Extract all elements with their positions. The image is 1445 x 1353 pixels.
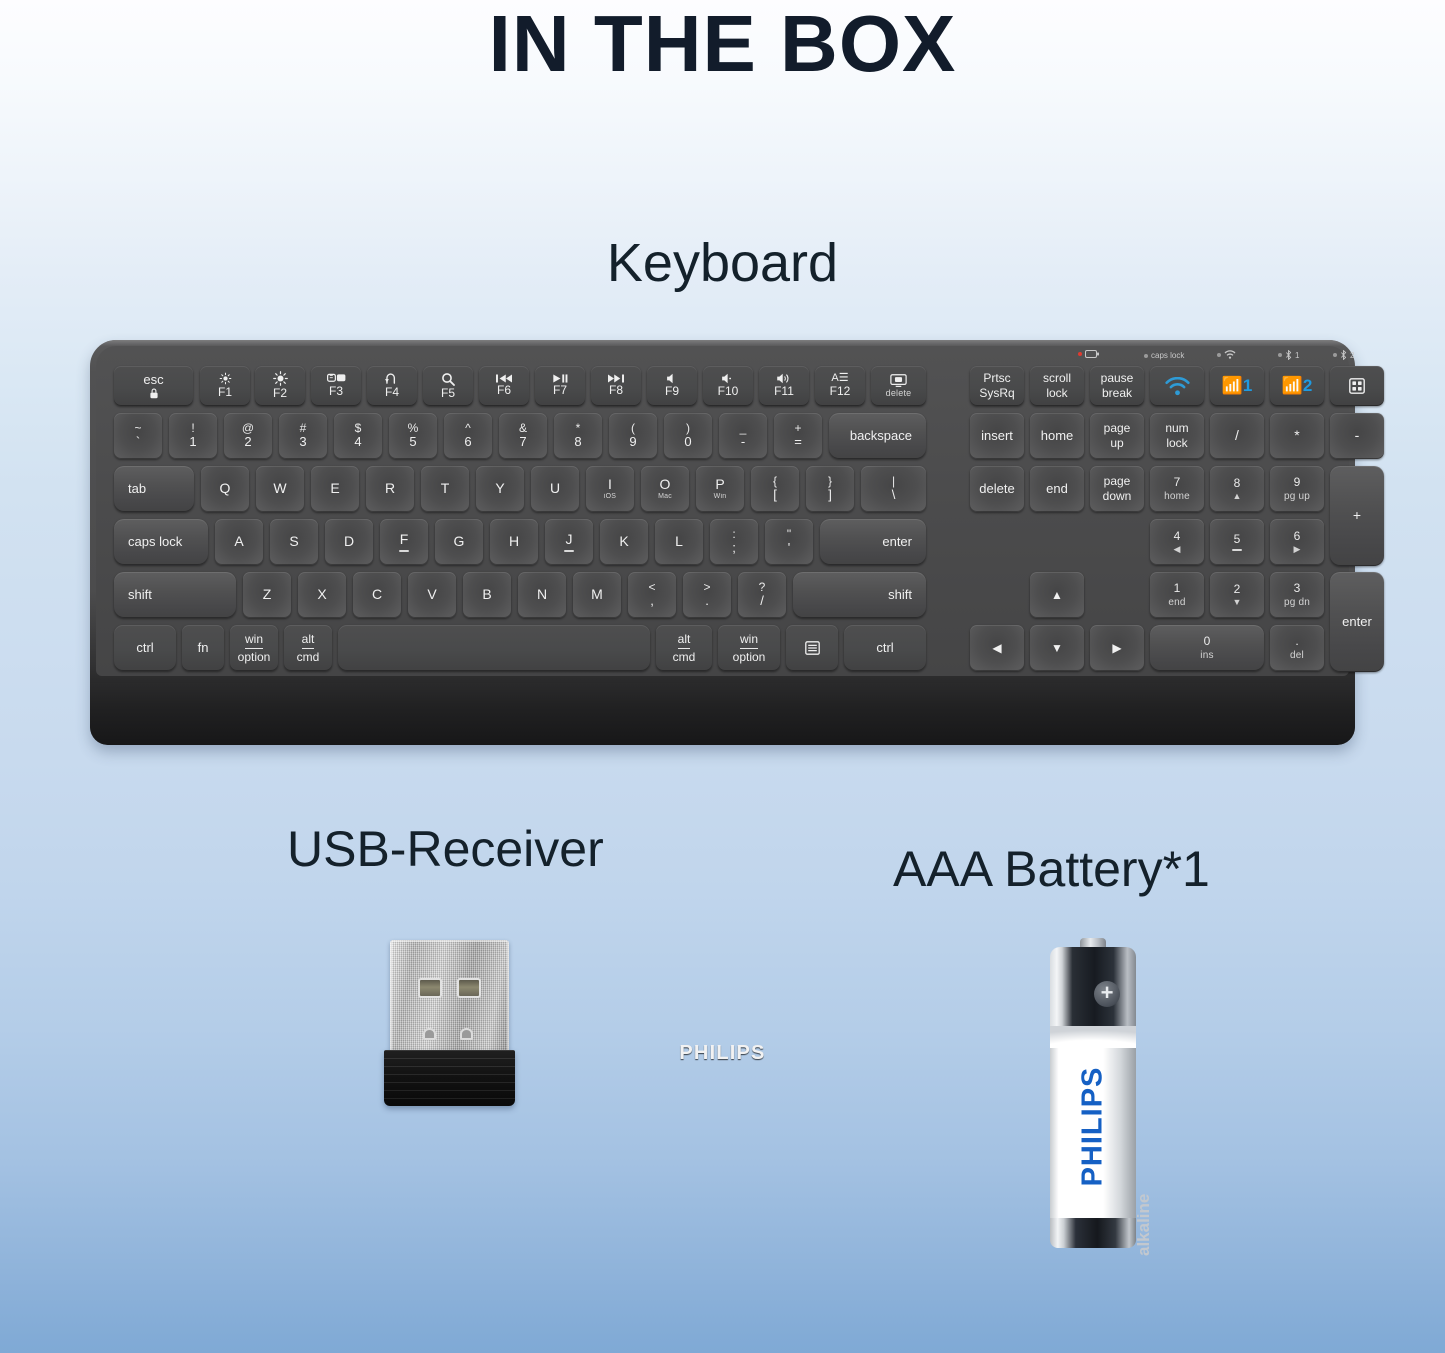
z-key[interactable]: Z bbox=[243, 572, 291, 618]
numpad-6-key[interactable]: 6▶ bbox=[1270, 519, 1324, 565]
numpad-decimal-key[interactable]: .del bbox=[1270, 625, 1324, 671]
wifi-led-dot bbox=[1217, 353, 1221, 357]
comma-key[interactable]: <, bbox=[628, 572, 676, 618]
menu-icon bbox=[805, 641, 820, 655]
q-key[interactable]: Q bbox=[201, 466, 249, 512]
caps-lock-led-dot bbox=[1144, 354, 1148, 358]
home-key[interactable]: home bbox=[1030, 413, 1084, 459]
bluetooth-channel-2-key[interactable]: 📶2 bbox=[1270, 366, 1324, 406]
numpad-0-key[interactable]: 0ins bbox=[1150, 625, 1264, 671]
bt2-led-dot bbox=[1333, 353, 1337, 357]
g-key[interactable]: G bbox=[435, 519, 483, 565]
brightness-up-icon bbox=[273, 371, 288, 386]
battery-negative-terminal bbox=[1050, 1218, 1136, 1248]
m-key[interactable]: M bbox=[573, 572, 621, 618]
battery-brand-text: PHILIPS bbox=[1077, 1032, 1110, 1222]
r-key[interactable]: R bbox=[366, 466, 414, 512]
battery-type-text: alkaline bbox=[1134, 1136, 1154, 1256]
language-icon: A☰ bbox=[831, 373, 848, 384]
f12-language-key[interactable]: A☰ F12 bbox=[815, 366, 865, 406]
bluetooth-icon: 📶2 bbox=[1282, 376, 1313, 395]
pause-break-key[interactable]: pause break bbox=[1090, 366, 1144, 406]
f-key[interactable]: F bbox=[380, 519, 428, 565]
digit-9-key[interactable]: (9 bbox=[609, 413, 657, 459]
back-arrow-icon bbox=[385, 373, 400, 385]
numpad-3-key[interactable]: 3pg dn bbox=[1270, 572, 1324, 618]
u-key[interactable]: U bbox=[531, 466, 579, 512]
battery-icon bbox=[1085, 350, 1099, 358]
a-key[interactable]: A bbox=[215, 519, 263, 565]
l-key[interactable]: L bbox=[655, 519, 703, 565]
j-homing-bar bbox=[564, 550, 574, 552]
usb-retention-notch bbox=[460, 1028, 473, 1040]
battery-led-indicator bbox=[1078, 350, 1099, 358]
x-key[interactable]: X bbox=[298, 572, 346, 618]
backspace-key[interactable]: backspace bbox=[829, 413, 926, 459]
numpad-7-key[interactable]: 7home bbox=[1150, 466, 1204, 512]
slash-key[interactable]: ?/ bbox=[738, 572, 786, 618]
wifi-led-indicator bbox=[1217, 350, 1236, 359]
battery-label-wrap: PHILIPS alkaline bbox=[1050, 1026, 1136, 1222]
f9-mute-key[interactable]: F9 bbox=[647, 366, 697, 406]
battery-label: AAA Battery*1 bbox=[893, 840, 1210, 898]
numpad-5-homing-bar bbox=[1232, 549, 1242, 551]
semicolon-key[interactable]: :; bbox=[710, 519, 758, 565]
previous-track-icon bbox=[496, 374, 512, 383]
bluetooth-icon bbox=[1285, 350, 1292, 360]
battery-led-dot bbox=[1078, 352, 1082, 356]
calculator-icon bbox=[1349, 378, 1365, 394]
enter-key[interactable]: enter bbox=[820, 519, 926, 565]
battery-top-section: + bbox=[1050, 947, 1136, 1029]
i-key[interactable]: IiOS bbox=[586, 466, 634, 512]
scroll-lock-key[interactable]: scroll lock bbox=[1030, 366, 1084, 406]
f6-previous-track-key[interactable]: F6 bbox=[479, 366, 529, 406]
digit-5-key[interactable]: %5 bbox=[389, 413, 437, 459]
numpad-multiply-key[interactable]: * bbox=[1270, 413, 1324, 459]
philips-brand-logo: PHILIPS bbox=[90, 1042, 1355, 1065]
f10-volume-down-key[interactable]: F10 bbox=[703, 366, 753, 406]
numpad-4-key[interactable]: 4◀ bbox=[1150, 519, 1204, 565]
left-bracket-key[interactable]: {[ bbox=[751, 466, 799, 512]
digit-0-key[interactable]: )0 bbox=[664, 413, 712, 459]
left-win-option-key[interactable]: win option bbox=[230, 625, 278, 671]
backtick-key[interactable]: ~` bbox=[114, 413, 162, 459]
h-key[interactable]: H bbox=[490, 519, 538, 565]
next-track-icon bbox=[608, 374, 624, 383]
keyboard-bottom-bezel bbox=[90, 683, 1355, 745]
s-key[interactable]: S bbox=[270, 519, 318, 565]
page-title: IN THE BOX bbox=[0, 2, 1445, 86]
end-key[interactable]: end bbox=[1030, 466, 1084, 512]
digit-3-key[interactable]: #3 bbox=[279, 413, 327, 459]
quote-key[interactable]: "' bbox=[765, 519, 813, 565]
context-menu-key[interactable] bbox=[786, 625, 838, 671]
task-view-icon bbox=[327, 373, 346, 384]
f-homing-bar bbox=[399, 550, 409, 552]
brightness-down-icon bbox=[219, 372, 232, 385]
w-key[interactable]: W bbox=[256, 466, 304, 512]
wifi-icon bbox=[1165, 377, 1190, 396]
p-key[interactable]: PWin bbox=[696, 466, 744, 512]
bluetooth-1-led-indicator: 1 bbox=[1278, 350, 1299, 360]
usb-receiver-label: USB-Receiver bbox=[287, 820, 604, 878]
right-win-option-key[interactable]: win option bbox=[718, 625, 780, 671]
bluetooth-2-led-indicator: 2 bbox=[1333, 350, 1354, 360]
bt1-led-label: 1 bbox=[1295, 351, 1299, 360]
left-alt-cmd-key[interactable]: alt cmd bbox=[284, 625, 332, 671]
usb-retention-notch bbox=[423, 1028, 436, 1040]
caps-lock-key[interactable]: caps lock bbox=[114, 519, 208, 565]
b-key[interactable]: B bbox=[463, 572, 511, 618]
j-key[interactable]: J bbox=[545, 519, 593, 565]
usb-plastic-body bbox=[384, 1050, 515, 1106]
y-key[interactable]: Y bbox=[476, 466, 524, 512]
k-key[interactable]: K bbox=[600, 519, 648, 565]
f11-volume-up-key[interactable]: F11 bbox=[759, 366, 809, 406]
arrow-up-key[interactable]: ▲ bbox=[1030, 572, 1084, 618]
volume-down-icon bbox=[721, 373, 735, 384]
caps-lock-led-label: caps lock bbox=[1151, 351, 1184, 360]
keyboard-product-image: caps lock 1 2 esc bbox=[90, 340, 1355, 745]
arrow-left-key[interactable]: ◀ bbox=[970, 625, 1024, 671]
digit-4-key[interactable]: $4 bbox=[334, 413, 382, 459]
f3-task-view-key[interactable]: F3 bbox=[311, 366, 361, 406]
f5-search-key[interactable]: F5 bbox=[423, 366, 473, 406]
left-ctrl-key[interactable]: ctrl bbox=[114, 625, 176, 671]
backslash-key[interactable]: |\ bbox=[861, 466, 926, 512]
space-key[interactable] bbox=[338, 625, 650, 671]
numpad-5-key[interactable]: 5 bbox=[1210, 519, 1264, 565]
screen-delete-icon bbox=[890, 374, 907, 387]
lock-icon bbox=[149, 388, 159, 399]
numpad-minus-key[interactable]: - bbox=[1330, 413, 1384, 459]
digit-2-key[interactable]: @2 bbox=[224, 413, 272, 459]
right-ctrl-key[interactable]: ctrl bbox=[844, 625, 926, 671]
o-key[interactable]: OMac bbox=[641, 466, 689, 512]
calculator-key[interactable] bbox=[1330, 366, 1384, 406]
numpad-1-key[interactable]: 1end bbox=[1150, 572, 1204, 618]
n-key[interactable]: N bbox=[518, 572, 566, 618]
delete-nav-key[interactable]: delete bbox=[970, 466, 1024, 512]
battery-plus-symbol: + bbox=[1094, 981, 1120, 1007]
right-bracket-key[interactable]: }] bbox=[806, 466, 854, 512]
period-key[interactable]: >. bbox=[683, 572, 731, 618]
search-icon bbox=[441, 372, 455, 386]
f1-brightness-down-key[interactable]: F1 bbox=[200, 366, 250, 406]
equals-key[interactable]: += bbox=[774, 413, 822, 459]
num-lock-key[interactable]: numlock bbox=[1150, 413, 1204, 459]
bluetooth-icon: 📶1 bbox=[1222, 376, 1253, 395]
arrow-right-key[interactable]: ▶ bbox=[1090, 625, 1144, 671]
digit-7-key[interactable]: &7 bbox=[499, 413, 547, 459]
play-pause-icon bbox=[553, 374, 568, 383]
volume-up-icon bbox=[776, 373, 792, 384]
arrow-down-key[interactable]: ▼ bbox=[1030, 625, 1084, 671]
fn-key[interactable]: fn bbox=[182, 625, 224, 671]
bluetooth-channel-1-key[interactable]: 📶1 bbox=[1210, 366, 1264, 406]
numpad-divide-key[interactable]: / bbox=[1210, 413, 1264, 459]
f7-play-pause-key[interactable]: F7 bbox=[535, 366, 585, 406]
usb-contact-slot bbox=[457, 978, 481, 998]
numpad-enter-key[interactable]: enter bbox=[1330, 572, 1384, 672]
prtsc-sysrq-key[interactable]: Prtsc SysRq bbox=[970, 366, 1024, 406]
digit-6-key[interactable]: ^6 bbox=[444, 413, 492, 459]
esc-key[interactable]: esc bbox=[114, 366, 193, 406]
wifi-icon bbox=[1224, 350, 1236, 359]
e-key[interactable]: E bbox=[311, 466, 359, 512]
tab-key[interactable]: tab bbox=[114, 466, 194, 512]
c-key[interactable]: C bbox=[353, 572, 401, 618]
delete-key[interactable]: delete bbox=[871, 366, 926, 406]
caps-lock-led-indicator: caps lock bbox=[1144, 351, 1184, 360]
bluetooth-icon bbox=[1340, 350, 1347, 360]
digit-8-key[interactable]: *8 bbox=[554, 413, 602, 459]
usb-connector-shell bbox=[390, 940, 509, 1056]
numpad-plus-key[interactable]: + bbox=[1330, 466, 1384, 566]
bt2-led-label: 2 bbox=[1350, 351, 1354, 360]
insert-key[interactable]: insert bbox=[970, 413, 1024, 459]
digit-1-key[interactable]: !1 bbox=[169, 413, 217, 459]
keyboard-section-label: Keyboard bbox=[0, 232, 1445, 294]
page-up-key[interactable]: pageup bbox=[1090, 413, 1144, 459]
v-key[interactable]: V bbox=[408, 572, 456, 618]
t-key[interactable]: T bbox=[421, 466, 469, 512]
f4-back-key[interactable]: F4 bbox=[367, 366, 417, 406]
mute-icon bbox=[666, 373, 679, 384]
numpad-8-key[interactable]: 8▲ bbox=[1210, 466, 1264, 512]
right-shift-key[interactable]: shift bbox=[793, 572, 926, 618]
usb-receiver-image bbox=[384, 940, 515, 1106]
left-shift-key[interactable]: shift bbox=[114, 572, 236, 618]
usb-contact-slot bbox=[418, 978, 442, 998]
right-alt-cmd-key[interactable]: alt cmd bbox=[656, 625, 712, 671]
numpad-9-key[interactable]: 9pg up bbox=[1270, 466, 1324, 512]
numpad-2-key[interactable]: 2▼ bbox=[1210, 572, 1264, 618]
f8-next-track-key[interactable]: F8 bbox=[591, 366, 641, 406]
bt1-led-dot bbox=[1278, 353, 1282, 357]
minus-key[interactable]: _- bbox=[719, 413, 767, 459]
aaa-battery-image: + PHILIPS alkaline bbox=[1050, 938, 1136, 1248]
wifi-channel-key[interactable] bbox=[1150, 366, 1204, 406]
page-down-key[interactable]: pagedown bbox=[1090, 466, 1144, 512]
d-key[interactable]: D bbox=[325, 519, 373, 565]
f2-brightness-up-key[interactable]: F2 bbox=[255, 366, 305, 406]
